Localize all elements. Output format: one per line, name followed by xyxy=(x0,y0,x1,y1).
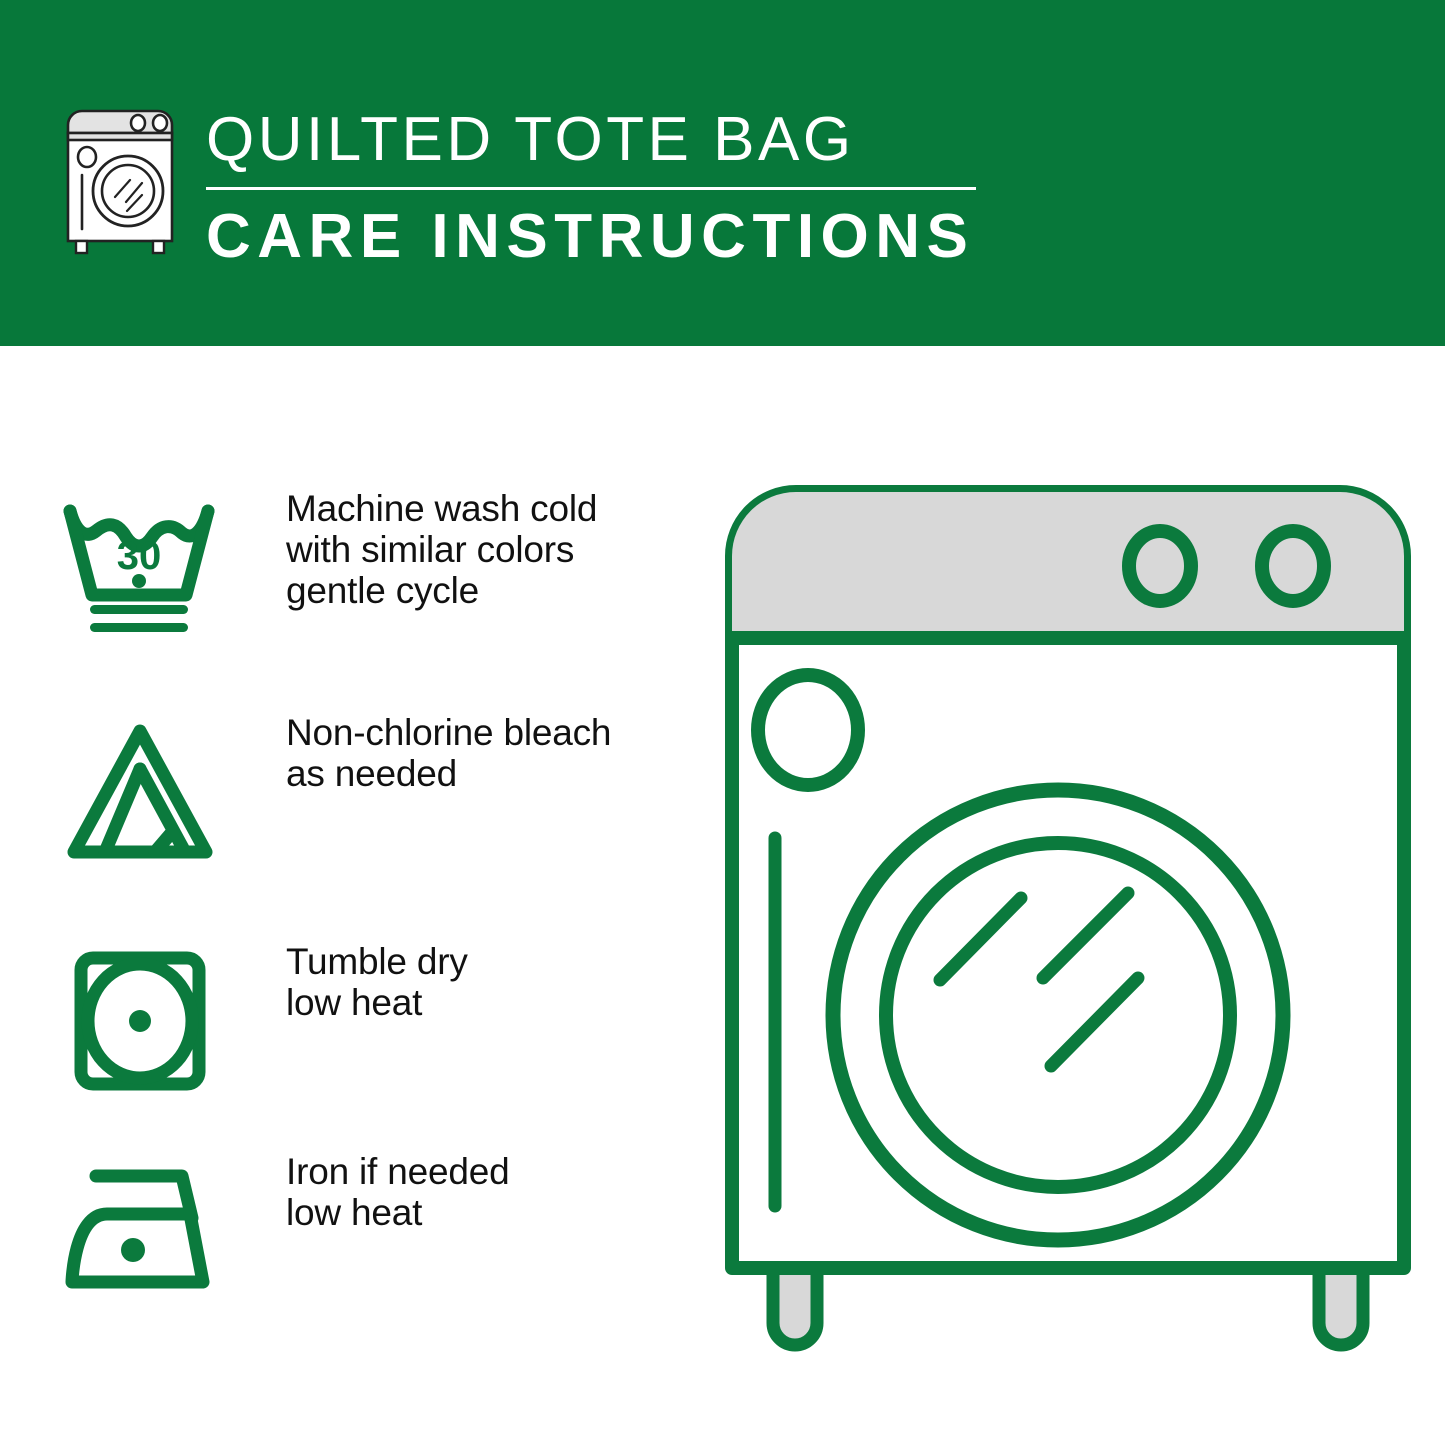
leg-right xyxy=(1319,1268,1363,1345)
page-subtitle: CARE INSTRUCTIONS xyxy=(206,202,996,272)
care-line: gentle cycle xyxy=(286,570,700,611)
leg-left xyxy=(773,1268,817,1345)
wash-temperature-label: 30 xyxy=(117,534,162,578)
page-title: QUILTED TOTE BAG xyxy=(206,104,996,176)
care-row-machine-wash: 30 Machine wash cold with similar colors… xyxy=(60,488,700,648)
care-line: with similar colors xyxy=(286,529,700,570)
care-text-tumble-dry: Tumble dry low heat xyxy=(240,941,700,1023)
header-title-block: QUILTED TOTE BAG CARE INSTRUCTIONS xyxy=(206,104,996,272)
front-load-washing-machine-illustration xyxy=(718,478,1418,1368)
care-line: low heat xyxy=(286,982,700,1023)
care-text-bleach: Non-chlorine bleach as needed xyxy=(240,712,700,794)
care-instructions-infographic: QUILTED TOTE BAG CARE INSTRUCTIONS xyxy=(0,0,1445,1445)
title-divider xyxy=(206,187,976,190)
iron-icon xyxy=(60,1151,240,1311)
care-row-tumble-dry: Tumble dry low heat xyxy=(60,941,700,1101)
tumble-dry-icon xyxy=(60,941,240,1101)
wash-tub-30-icon: 30 xyxy=(60,488,240,648)
care-line: low heat xyxy=(286,1192,700,1233)
care-row-bleach: Non-chlorine bleach as needed xyxy=(60,712,700,872)
care-text-iron: Iron if needed low heat xyxy=(240,1151,700,1233)
care-text-machine-wash: Machine wash cold with similar colors ge… xyxy=(240,488,700,611)
care-line: Non-chlorine bleach xyxy=(286,712,700,753)
care-line: Iron if needed xyxy=(286,1151,700,1192)
header-banner: QUILTED TOTE BAG CARE INSTRUCTIONS xyxy=(0,0,1445,346)
care-row-iron: Iron if needed low heat xyxy=(60,1151,700,1311)
washing-machine-icon xyxy=(60,103,180,255)
bleach-triangle-icon xyxy=(60,712,240,872)
care-instruction-list: 30 Machine wash cold with similar colors… xyxy=(0,346,700,1445)
care-line: Tumble dry xyxy=(286,941,700,982)
control-panel xyxy=(732,492,1404,638)
care-line: Machine wash cold xyxy=(286,488,700,529)
care-line: as needed xyxy=(286,753,700,794)
